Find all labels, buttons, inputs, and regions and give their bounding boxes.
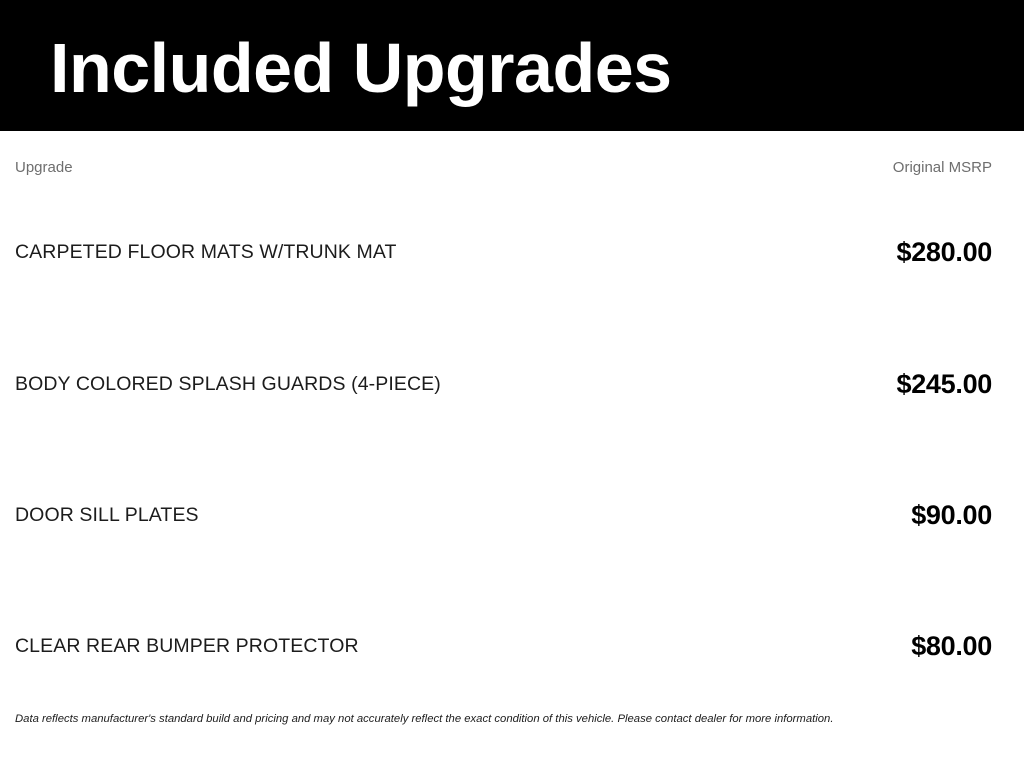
title-banner: Included Upgrades xyxy=(0,0,1024,131)
column-header-original-msrp: Original MSRP xyxy=(893,158,992,178)
upgrade-name: CARPETED FLOOR MATS W/TRUNK MAT xyxy=(15,235,397,269)
table-row: DOOR SILL PLATES $90.00 xyxy=(0,498,1024,532)
upgrade-name: BODY COLORED SPLASH GUARDS (4-PIECE) xyxy=(15,367,441,401)
upgrade-price: $280.00 xyxy=(897,235,993,269)
table-row: CLEAR REAR BUMPER PROTECTOR $80.00 xyxy=(0,629,1024,663)
upgrade-name: CLEAR REAR BUMPER PROTECTOR xyxy=(15,629,359,663)
disclaimer-text: Data reflects manufacturer's standard bu… xyxy=(15,711,1009,727)
upgrade-name: DOOR SILL PLATES xyxy=(15,498,199,532)
table-row: BODY COLORED SPLASH GUARDS (4-PIECE) $24… xyxy=(0,367,1024,401)
page-title: Included Upgrades xyxy=(50,28,672,108)
upgrade-price: $90.00 xyxy=(911,498,992,532)
upgrades-table: Upgrade Original MSRP CARPETED FLOOR MAT… xyxy=(0,131,1024,691)
table-header-row: Upgrade Original MSRP xyxy=(0,158,1024,178)
column-header-upgrade: Upgrade xyxy=(15,158,73,178)
included-upgrades-page: Included Upgrades Upgrade Original MSRP … xyxy=(0,0,1024,768)
upgrade-price: $245.00 xyxy=(897,367,993,401)
upgrade-price: $80.00 xyxy=(911,629,992,663)
table-row: CARPETED FLOOR MATS W/TRUNK MAT $280.00 xyxy=(0,235,1024,269)
